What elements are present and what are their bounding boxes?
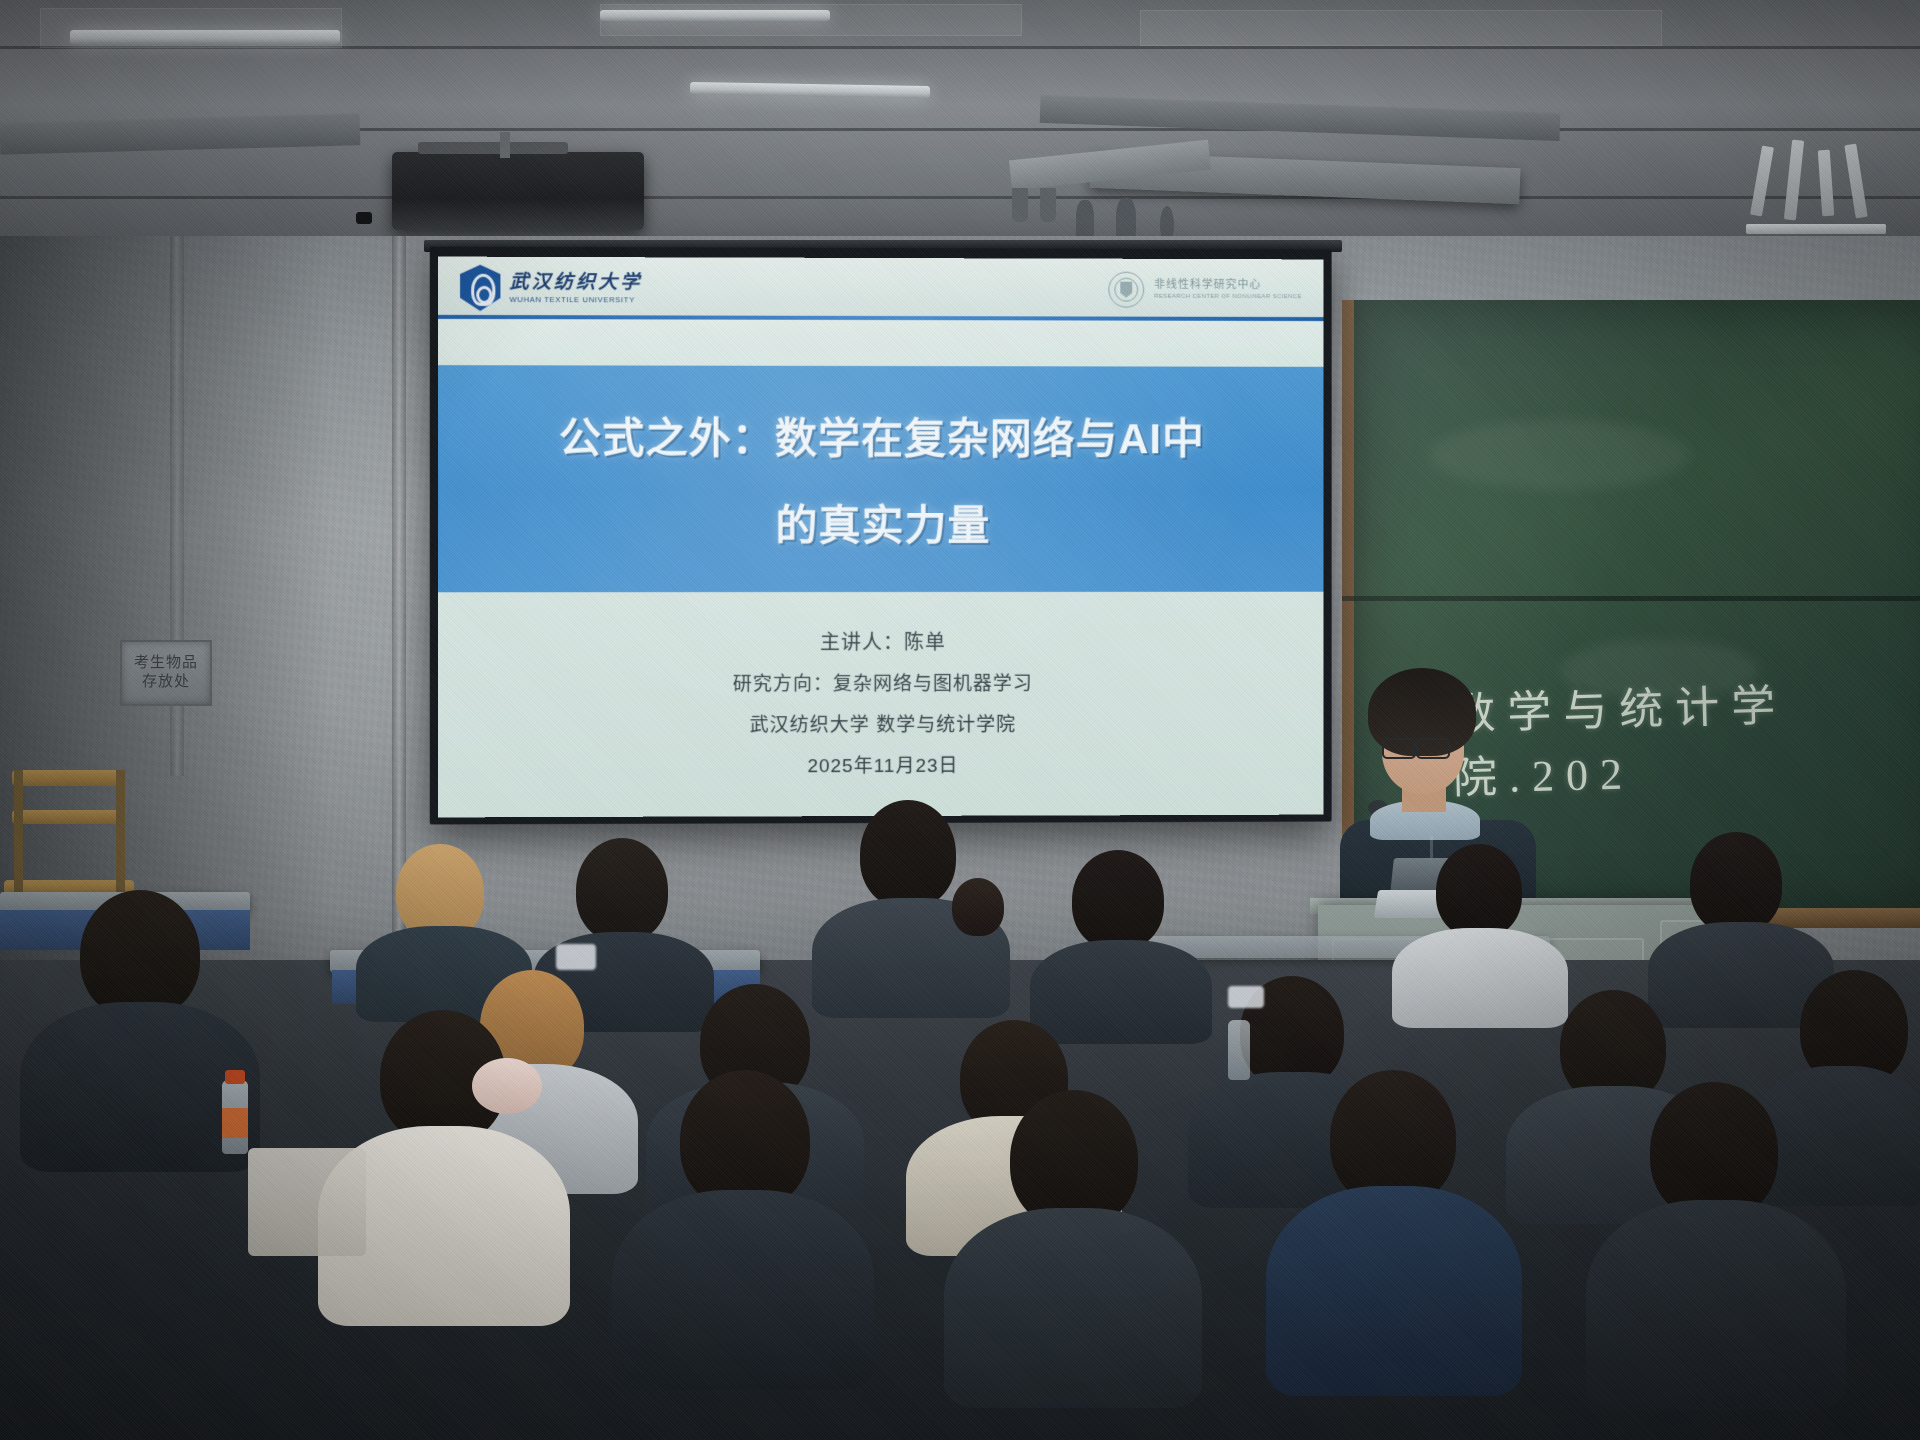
phone-screen-glow xyxy=(1228,986,1264,1008)
slide-research-line: 研究方向：复杂网络与图机器学习 xyxy=(733,669,1033,696)
audience-shoulders xyxy=(1586,1200,1846,1410)
phone-screen-glow xyxy=(556,944,596,970)
research-center-seal-icon xyxy=(1108,272,1144,308)
water-bottle[interactable] xyxy=(1228,1020,1250,1080)
presentation-slide: 武汉纺织大学 WUHAN TEXTILE UNIVERSITY 非线性科学研究中… xyxy=(438,257,1324,818)
tube-light xyxy=(600,10,830,21)
ceiling-chandelier xyxy=(1746,140,1896,250)
chair-back[interactable] xyxy=(12,770,122,786)
bottle-label xyxy=(222,1108,248,1138)
wall-sign-line2: 存放处 xyxy=(142,673,190,692)
research-center-logo: 非线性科学研究中心 RESEARCH CENTER OF NONLINEAR S… xyxy=(1108,272,1302,308)
chair-back[interactable] xyxy=(12,810,122,824)
slide-date-line: 2025年11月23日 xyxy=(807,751,958,778)
university-name-en: WUHAN TEXTILE UNIVERSITY xyxy=(509,296,642,304)
university-name-cn: 武汉纺织大学 xyxy=(509,273,642,292)
audience-head xyxy=(680,1070,810,1210)
glasses-lens-left-icon xyxy=(1382,738,1416,759)
wall-sign-line1: 考生物品 xyxy=(134,654,198,673)
audience-head xyxy=(860,800,956,908)
tube-light xyxy=(70,30,340,44)
projector-lens xyxy=(356,212,372,224)
ceiling-panel xyxy=(1140,10,1662,46)
university-logo: 武汉纺织大学 WUHAN TEXTILE UNIVERSITY xyxy=(460,265,642,312)
research-center-name-en: RESEARCH CENTER OF NONLINEAR SCIENCE xyxy=(1154,294,1302,301)
projector-mount xyxy=(500,132,510,158)
audience-hair-bun xyxy=(952,878,1004,936)
ceiling-seam xyxy=(0,196,1920,199)
research-center-name-cn: 非线性科学研究中心 xyxy=(1154,279,1302,292)
audience-shoulders xyxy=(944,1208,1202,1408)
audience-shoulders xyxy=(1392,928,1568,1028)
slide-speaker-line: 主讲人：陈单 xyxy=(820,626,946,655)
audience-head xyxy=(576,838,668,942)
ceiling-hook xyxy=(1012,188,1028,222)
slide-title-band: 公式之外：数学在复杂网络与AI中 的真实力量 xyxy=(438,365,1324,592)
slide-subtitle-block: 主讲人：陈单 研究方向：复杂网络与图机器学习 武汉纺织大学 数学与统计学院 20… xyxy=(438,592,1324,818)
audience-head xyxy=(1436,844,1522,938)
audience-head xyxy=(1690,832,1782,934)
audience-area xyxy=(0,960,1920,1440)
blackboard-divider xyxy=(1342,596,1920,601)
glasses-bridge-icon xyxy=(1412,744,1418,747)
audience-head xyxy=(80,890,200,1018)
bottle-cap xyxy=(225,1070,245,1084)
university-crest-icon xyxy=(460,265,500,311)
slide-affiliation-line: 武汉纺织大学 数学与统计学院 xyxy=(750,710,1016,738)
slide-header: 武汉纺织大学 WUHAN TEXTILE UNIVERSITY 非线性科学研究中… xyxy=(438,257,1324,321)
audience-shoulders xyxy=(612,1190,874,1390)
ceiling-projector xyxy=(392,152,644,230)
chalk-smudge xyxy=(1430,420,1690,490)
audience-shoulders xyxy=(1752,1066,1920,1206)
lecture-hall-photo: 考生物品 存放处 数学与统计学院.202 武汉纺织大学 WUHAN TEXTIL… xyxy=(0,0,1920,1440)
wall-edge xyxy=(392,236,406,936)
tote-bag[interactable] xyxy=(248,1148,366,1256)
audience-head xyxy=(1072,850,1164,950)
audience-shoulders xyxy=(1266,1186,1522,1396)
slide-title-line-2: 的真实力量 xyxy=(775,492,990,553)
wall-sign-exam-storage: 考生物品 存放处 xyxy=(120,640,212,706)
glasses-lens-right-icon xyxy=(1416,738,1450,759)
slide-title-line-1: 公式之外：数学在复杂网络与AI中 xyxy=(559,405,1205,467)
slide-spacer xyxy=(438,319,1324,367)
hair-scrunchie xyxy=(472,1058,542,1114)
ceiling-hook xyxy=(1040,188,1056,222)
audience-shoulders xyxy=(1030,940,1212,1044)
